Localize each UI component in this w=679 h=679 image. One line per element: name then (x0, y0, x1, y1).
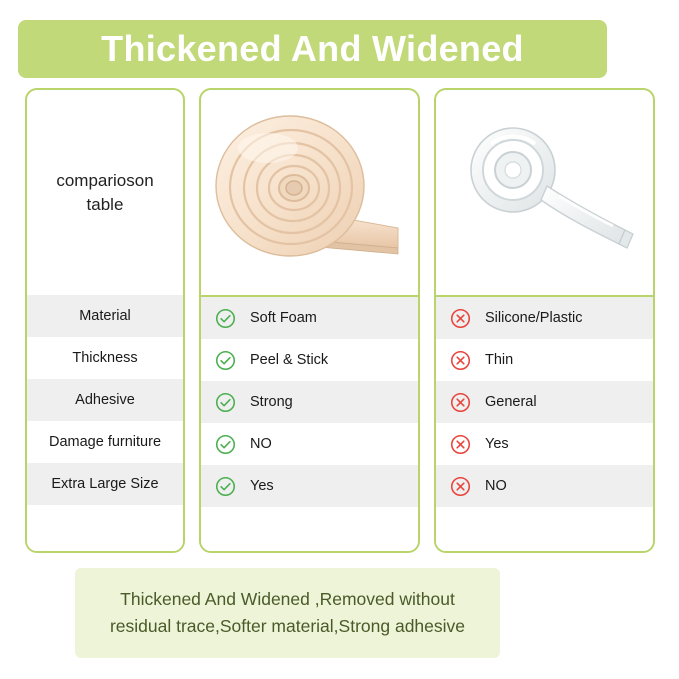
foam-value-rows: Soft Foam Peel & Stick Strong NO Yes (201, 297, 418, 551)
cell-value: NO (485, 478, 507, 494)
table-row: NO (201, 423, 418, 465)
footer-banner: Thickened And Widened ,Removed without r… (75, 568, 500, 658)
cell-value: Silicone/Plastic (485, 310, 583, 326)
foam-roll-image (201, 90, 418, 297)
table-row: Yes (436, 423, 653, 465)
table-row: Soft Foam (201, 297, 418, 339)
cross-circle-icon (450, 350, 471, 371)
cell-value: Soft Foam (250, 310, 317, 326)
row-spacer (201, 507, 418, 551)
table-row: Damage furniture (27, 421, 183, 463)
check-circle-icon (215, 434, 236, 455)
comparison-table-title: comparioson table (27, 90, 183, 295)
footer-text-line2: residual trace,Softer material,Strong ad… (110, 613, 465, 640)
cell-value: General (485, 394, 537, 410)
cell-value: Yes (485, 436, 509, 452)
cell-value: Yes (250, 478, 274, 494)
comparison-table: comparioson table Material Thickness Adh… (25, 88, 655, 553)
cross-circle-icon (450, 434, 471, 455)
row-spacer (436, 507, 653, 551)
infographic-page: Thickened And Widened comparioson table … (0, 0, 679, 679)
cross-circle-icon (450, 476, 471, 497)
comparison-title-line2: table (87, 195, 124, 214)
silicone-value-rows: Silicone/Plastic Thin General Yes NO (436, 297, 653, 551)
comparison-title-line1: comparioson (56, 171, 153, 190)
feature-label: Damage furniture (49, 434, 161, 450)
table-row: Extra Large Size (27, 463, 183, 505)
table-row: Adhesive (27, 379, 183, 421)
cross-circle-icon (450, 392, 471, 413)
feature-label: Extra Large Size (51, 476, 158, 492)
feature-label: Adhesive (75, 392, 135, 408)
cell-value: Peel & Stick (250, 352, 328, 368)
header-banner: Thickened And Widened (18, 20, 607, 78)
cross-circle-icon (450, 308, 471, 329)
feature-label-column: comparioson table Material Thickness Adh… (25, 88, 185, 553)
table-row: Strong (201, 381, 418, 423)
row-spacer (27, 505, 183, 551)
feature-label: Thickness (72, 350, 137, 366)
table-row: Thin (436, 339, 653, 381)
clear-silicone-strip-image (436, 90, 653, 297)
check-circle-icon (215, 476, 236, 497)
cell-value: Strong (250, 394, 293, 410)
comparison-table-title-text: comparioson table (56, 169, 153, 217)
table-row: Thickness (27, 337, 183, 379)
cell-value: NO (250, 436, 272, 452)
table-row: Yes (201, 465, 418, 507)
page-title: Thickened And Widened (101, 28, 524, 70)
table-row: General (436, 381, 653, 423)
table-row: Material (27, 295, 183, 337)
product-column-silicone: Silicone/Plastic Thin General Yes NO (434, 88, 655, 553)
feature-label-rows: Material Thickness Adhesive Damage furni… (27, 295, 183, 551)
check-circle-icon (215, 308, 236, 329)
product-column-foam: Soft Foam Peel & Stick Strong NO Yes (199, 88, 420, 553)
table-row: Peel & Stick (201, 339, 418, 381)
silicone-strip-illustration (447, 108, 643, 278)
footer-text-line1: Thickened And Widened ,Removed without (120, 586, 455, 613)
table-row: NO (436, 465, 653, 507)
table-row: Silicone/Plastic (436, 297, 653, 339)
feature-label: Material (79, 308, 131, 324)
cell-value: Thin (485, 352, 513, 368)
check-circle-icon (215, 350, 236, 371)
foam-roll-illustration (212, 108, 408, 278)
check-circle-icon (215, 392, 236, 413)
